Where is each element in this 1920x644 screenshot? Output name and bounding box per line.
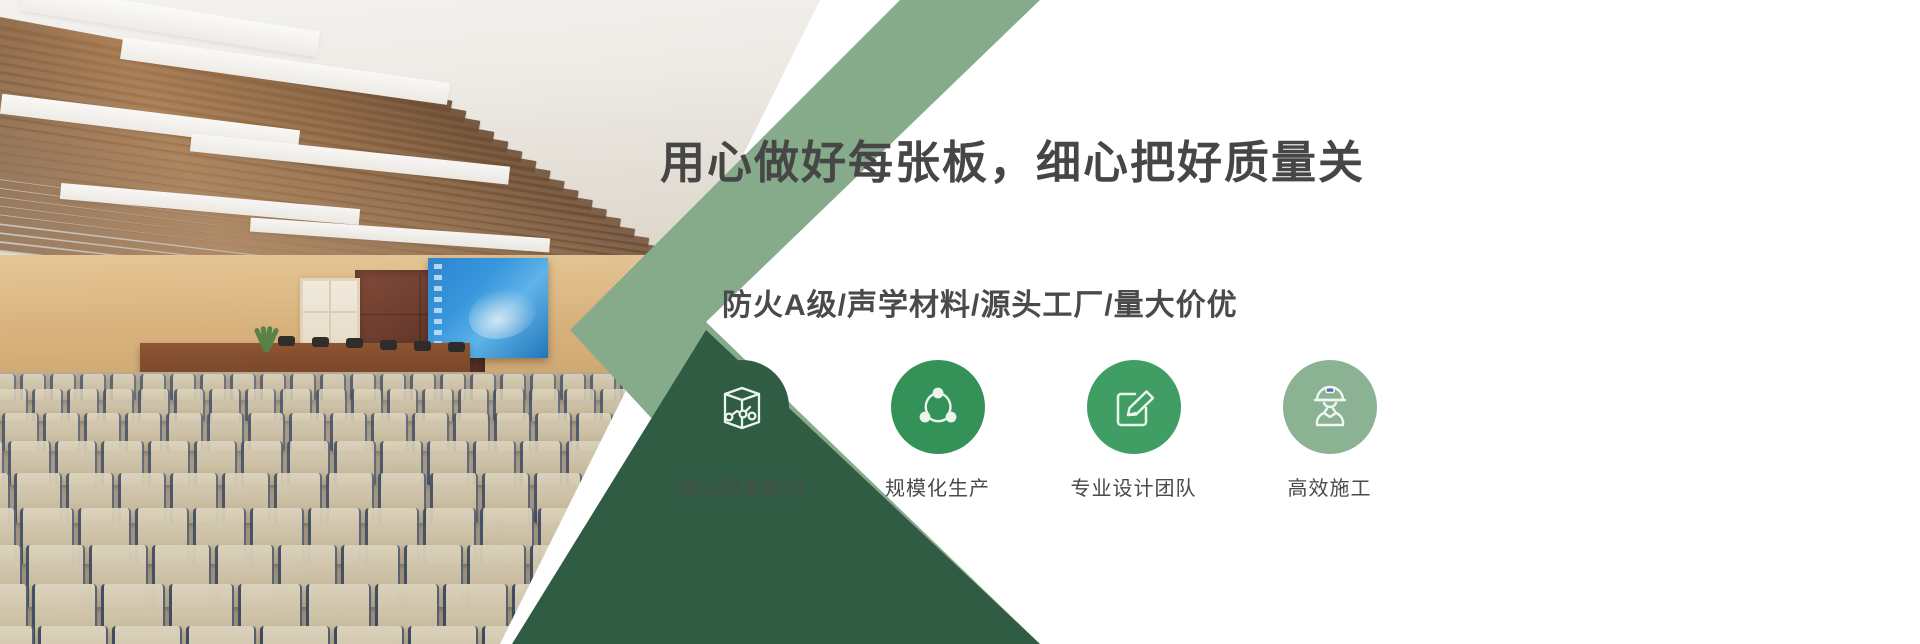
feature-list: 核心研发能力 规模化生产 [670, 360, 1401, 501]
feature-icon-circle [891, 360, 985, 454]
feature-icon-circle [1283, 360, 1377, 454]
feature-label: 核心研发能力 [679, 472, 805, 501]
pencil-square-edit-icon [1108, 381, 1160, 433]
worker-helmet-icon [1304, 381, 1356, 433]
feature-label: 高效施工 [1288, 472, 1372, 501]
network-nodes-icon [912, 381, 964, 433]
feature-label: 专业设计团队 [1071, 472, 1197, 501]
rnd-box-chart-icon [716, 381, 768, 433]
feature-item-design-team[interactable]: 专业设计团队 [1062, 360, 1205, 501]
feature-icon-circle [695, 360, 789, 454]
feature-icon-circle [1087, 360, 1181, 454]
promo-banner: 用心做好每张板，细心把好质量关 防火A级/声学材料/源头工厂/量大价优 [0, 0, 1920, 644]
feature-item-core-rnd[interactable]: 核心研发能力 [670, 360, 813, 501]
banner-subtitle: 防火A级/声学材料/源头工厂/量大价优 [722, 280, 1238, 324]
banner-headline: 用心做好每张板，细心把好质量关 [660, 126, 1365, 191]
feature-item-scaled-production[interactable]: 规模化生产 [866, 360, 1009, 501]
banner-content: 用心做好每张板，细心把好质量关 防火A级/声学材料/源头工厂/量大价优 [660, 0, 1920, 644]
feature-item-efficient-construction[interactable]: 高效施工 [1258, 360, 1401, 501]
feature-label: 规模化生产 [885, 472, 990, 501]
